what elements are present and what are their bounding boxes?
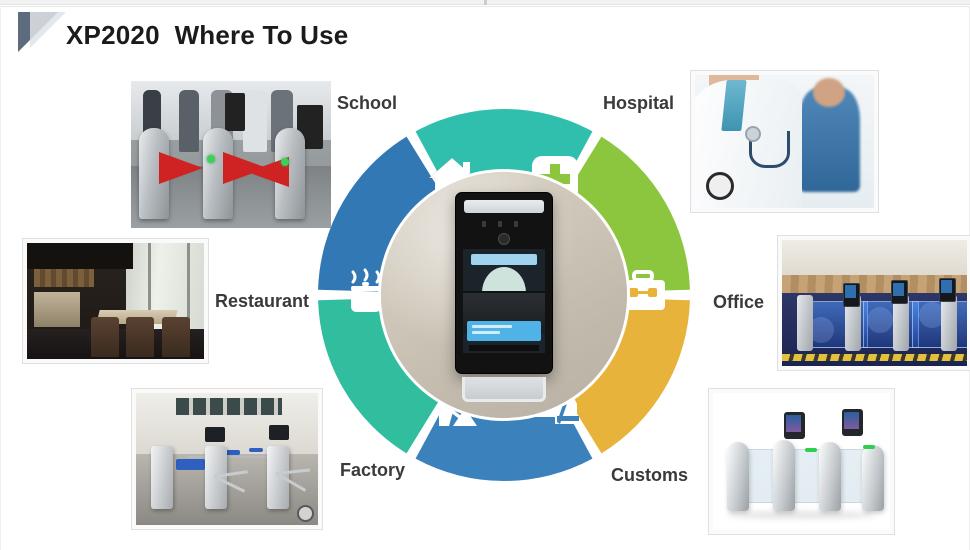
slide: XP2020 Where To Use	[0, 0, 970, 550]
photo-restaurant	[22, 238, 209, 364]
photo-school	[131, 81, 331, 228]
customs-photo-scene	[713, 393, 890, 530]
window-chrome-tick	[484, 0, 487, 5]
photo-hospital	[690, 70, 879, 213]
use-case-wheel	[315, 106, 693, 484]
photo-office	[777, 235, 970, 371]
hospital-photo-scene	[695, 75, 874, 208]
factory-photo-scene	[136, 393, 318, 525]
window-chrome-line	[0, 6, 970, 7]
school-photo-scene	[131, 81, 331, 228]
face-recognition-terminal	[455, 192, 553, 374]
photo-factory	[131, 388, 323, 530]
device-stand	[462, 377, 546, 402]
center-device-photo	[381, 172, 627, 418]
page-title: XP2020 Where To Use	[66, 20, 348, 51]
photo-customs	[708, 388, 895, 535]
label-restaurant: Restaurant	[215, 291, 309, 312]
restaurant-photo-scene	[27, 243, 204, 359]
slide-edge-left	[0, 6, 1, 550]
decorative-triangle-light	[30, 12, 66, 48]
label-office: Office	[713, 292, 764, 313]
magnifier-icon	[297, 505, 314, 522]
office-photo-scene	[782, 240, 967, 366]
